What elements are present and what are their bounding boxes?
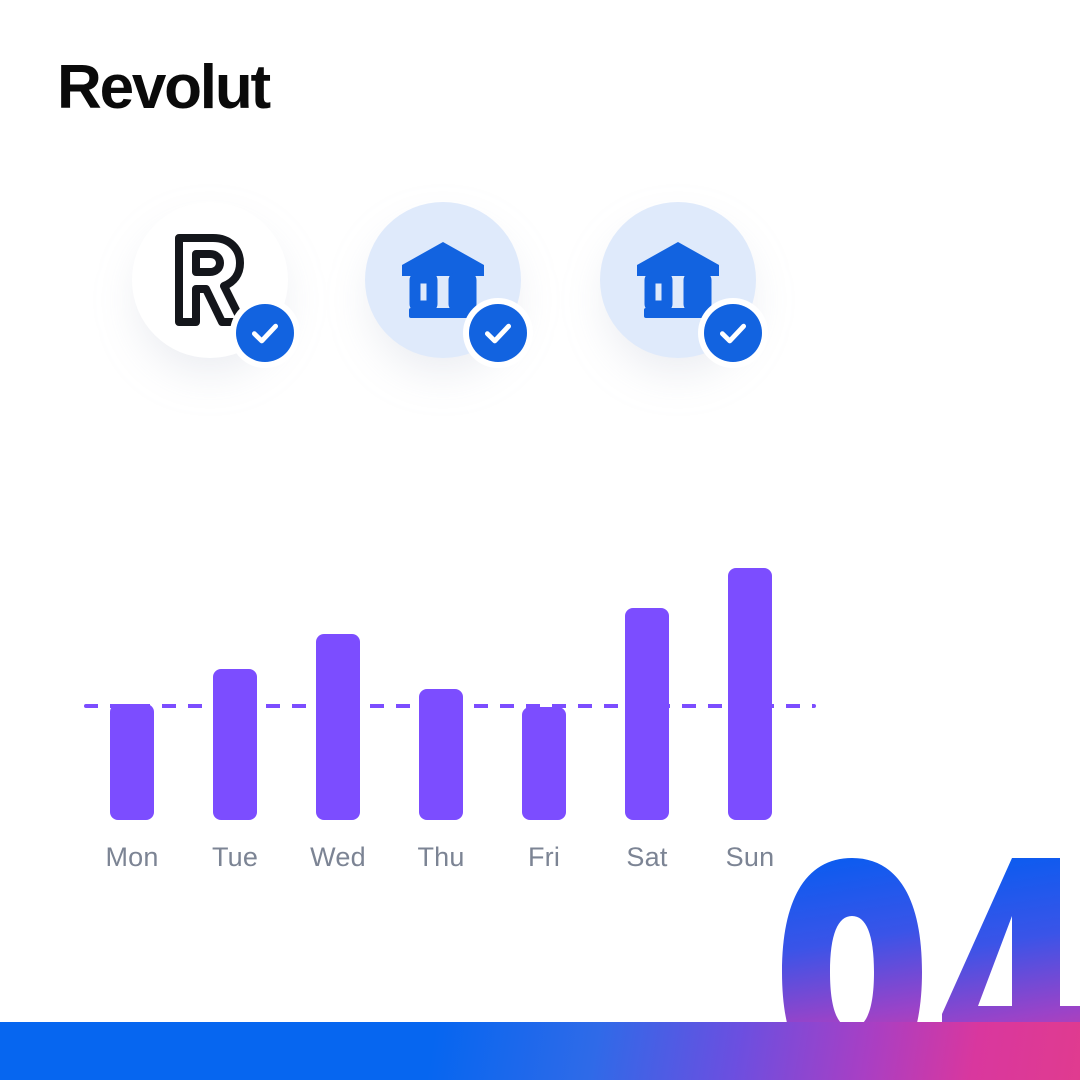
bar-wed[interactable] [316,634,360,820]
bar-mon[interactable] [110,704,154,820]
bar-sat[interactable] [625,608,669,820]
average-dashed-line [84,704,816,708]
weekly-spending-bar-chart: MonTueWedThuFriSatSun [0,0,1080,900]
bottom-gradient-bar [0,1022,1080,1080]
bar-thu[interactable] [419,689,463,820]
bar-tue[interactable] [213,669,257,820]
bar-fri[interactable] [522,707,566,820]
bar-sun[interactable] [728,568,772,820]
slide-canvas: Revolut [0,0,1080,1080]
